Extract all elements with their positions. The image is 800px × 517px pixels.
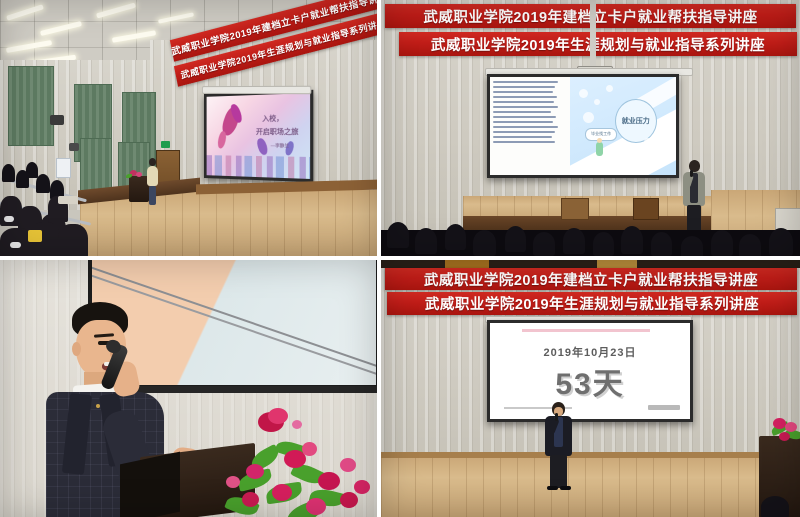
- lapel-pin: [96, 404, 100, 408]
- legs: [550, 455, 567, 488]
- runner-silhouette: [256, 137, 269, 156]
- bullet-line: [493, 136, 552, 138]
- slide-bullet-list: [490, 77, 570, 175]
- bullet-line: [493, 121, 553, 123]
- window-curtain: [8, 66, 54, 146]
- photo-collage: 武威职业学院2019年建档立卡户就业帮扶指导讲座 武威职业学院2019年生涯规划…: [0, 0, 800, 517]
- audience-member: [739, 234, 761, 256]
- wall-speaker: [69, 143, 79, 151]
- projector-mount: [590, 0, 596, 68]
- speaker-at-lectern: [145, 158, 159, 206]
- wall-speaker: [50, 115, 64, 125]
- audience-member: [769, 228, 793, 256]
- panel-auditorium-wide-view: 武威职业学院2019年建档立卡户就业帮扶指导讲座 武威职业学院2019年生涯规划…: [0, 0, 377, 256]
- panel-lecture-employment-pressure: 武威职业学院2019年建档立卡户就业帮扶指导讲座 武威职业学院2019年生涯规划…: [381, 0, 800, 256]
- audience-member: [26, 162, 38, 178]
- audience-member: [2, 164, 15, 182]
- panel-speaker-closeup: [0, 260, 377, 517]
- flower: [306, 498, 326, 515]
- slide-countdown: 2019年10月23日 53天: [490, 323, 690, 419]
- audience-member: [58, 224, 88, 256]
- slide-title-line1: 入校，: [262, 116, 283, 125]
- bullet-line: [493, 116, 556, 118]
- panel-lecture-countdown: 武威职业学院2019年建档立卡户就业帮扶指导讲座 武威职业学院2019年生涯规划…: [381, 260, 800, 517]
- bullet-line: [493, 86, 555, 88]
- slide-date: 2019年10月23日: [490, 344, 690, 360]
- screen-roller: [202, 86, 311, 94]
- audience-member: [593, 232, 614, 256]
- flower: [779, 432, 790, 441]
- audience-member: [36, 174, 50, 193]
- microphone: [555, 413, 558, 421]
- banner-line2: 武威职业学院2019年生涯规划与就业指导系列讲座: [387, 292, 797, 315]
- bullet-line: [493, 101, 554, 103]
- flower: [242, 492, 259, 507]
- slide-accent-rule: [522, 329, 650, 332]
- bullet-line: [493, 106, 558, 108]
- flower: [136, 172, 142, 177]
- snow-dot: [594, 99, 600, 105]
- audience-member: [563, 228, 585, 254]
- snow-dot: [630, 150, 636, 156]
- flower: [226, 476, 240, 488]
- snow-dot: [606, 85, 613, 92]
- projection-surface: 入校， 开启职场之旅 —李静兰: [207, 93, 311, 179]
- photo-top-edge-light: [597, 260, 637, 268]
- exit-sign: [161, 141, 170, 148]
- snowball-label: 就业压力: [615, 99, 657, 143]
- bullet-line: [493, 96, 557, 98]
- flower: [268, 408, 288, 424]
- stage-edge: [381, 452, 800, 458]
- slide-employment-pressure: 就业压力 毕业找工作: [490, 77, 676, 175]
- cartoon-figure: [596, 142, 603, 156]
- flower: [785, 422, 797, 432]
- audience-member: [761, 496, 789, 517]
- audience-member: [651, 232, 672, 256]
- audience-member: [473, 230, 496, 256]
- slide-career-journey: 入校， 开启职场之旅 —李静兰: [207, 93, 311, 179]
- flower: [272, 484, 292, 501]
- runner-silhouette: [216, 131, 227, 150]
- microphone: [690, 170, 693, 177]
- audience-member: [415, 228, 437, 254]
- bullet-line: [493, 81, 558, 83]
- audience-member: [445, 224, 466, 250]
- projection-surface: 就业压力 毕业找工作: [490, 77, 676, 175]
- stage-box: [561, 198, 589, 220]
- head: [149, 158, 156, 166]
- photo-top-edge-light: [445, 260, 489, 268]
- audience-member: [711, 230, 733, 256]
- yellow-bag: [28, 230, 42, 242]
- stage-floor: [80, 190, 377, 256]
- flower: [246, 464, 264, 479]
- speaker-with-microphone: [541, 402, 575, 490]
- snow-dot: [579, 89, 588, 98]
- flower: [354, 480, 370, 494]
- banner-line1: 武威职业学院2019年建档立卡户就业帮扶指导讲座: [385, 268, 797, 290]
- shoe: [10, 242, 21, 248]
- snow-illustration: 就业压力 毕业找工作: [570, 77, 676, 175]
- audience-member: [387, 222, 409, 248]
- flower-bud: [292, 420, 302, 429]
- slide-countdown-value: 53天: [490, 359, 690, 403]
- ear: [72, 342, 81, 356]
- audience-member: [505, 226, 526, 252]
- audience-member: [621, 226, 643, 254]
- audience-member: [681, 236, 703, 256]
- flower: [318, 472, 340, 490]
- cartoon-head: [597, 138, 602, 143]
- shoe: [4, 216, 14, 222]
- photo-top-edge: [381, 260, 800, 268]
- shoe: [560, 486, 571, 490]
- bullet-line: [493, 126, 558, 128]
- podium-side: [120, 452, 180, 517]
- bullet-line: [493, 111, 551, 113]
- torso: [147, 166, 158, 186]
- banner-line2: 武威职业学院2019年生涯规划与就业指导系列讲座: [399, 32, 797, 56]
- projection-surface: 2019年10月23日 53天: [490, 323, 690, 419]
- audience-foreground: [381, 230, 800, 256]
- slide-footer-badge: [648, 405, 680, 410]
- projector-screen: 入校， 开启职场之旅 —李静兰: [204, 90, 313, 182]
- flower: [302, 442, 317, 456]
- bullet-line: [493, 141, 555, 143]
- snow-dot: [583, 112, 594, 123]
- city-skyline: [207, 155, 311, 179]
- legs: [149, 186, 156, 205]
- shoe: [547, 486, 558, 490]
- bullet-line: [493, 131, 555, 133]
- desk-paper: [58, 196, 78, 204]
- stage-box: [633, 198, 659, 220]
- stage-floor: [381, 456, 800, 517]
- window-curtain: [80, 138, 112, 192]
- projector-screen: 2019年10月23日 53天: [487, 320, 693, 422]
- flower: [340, 492, 358, 508]
- audience-member: [533, 232, 555, 256]
- flower: [340, 458, 356, 472]
- bullet-line: [493, 91, 553, 93]
- slide-signature: —李静兰: [271, 143, 289, 149]
- slide-title-line2: 开启职场之旅: [256, 129, 298, 138]
- projector-screen: 就业压力 毕业找工作: [487, 74, 679, 178]
- wall-poster: [56, 158, 71, 178]
